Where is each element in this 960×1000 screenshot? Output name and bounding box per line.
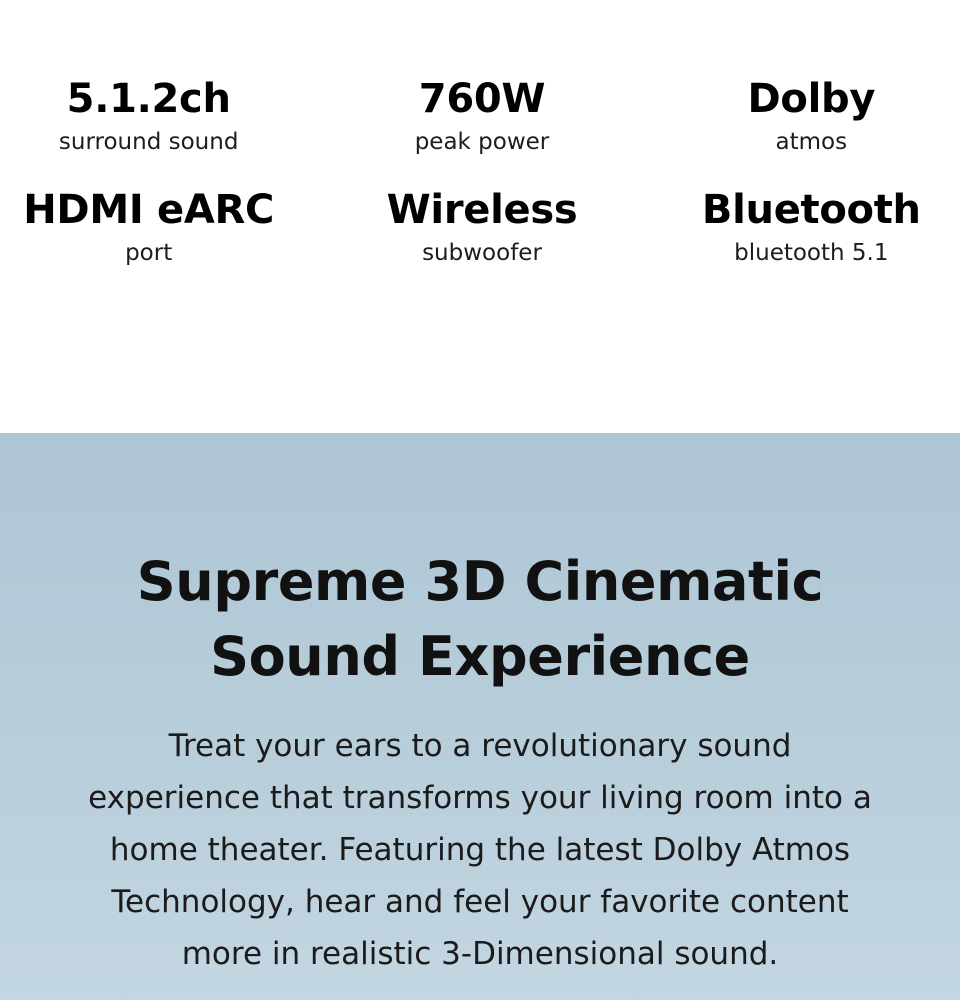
spec-item-surround-sound: 5.1.2ch surround sound (0, 78, 333, 156)
hero-section: Supreme 3D Cinematic Sound Experience Tr… (0, 433, 960, 1000)
spec-value: 5.1.2ch (67, 78, 231, 121)
spec-value: Bluetooth (702, 189, 921, 232)
spec-value: HDMI eARC (23, 189, 274, 232)
spec-label: peak power (415, 130, 550, 156)
spec-item-hdmi-earc: HDMI eARC port (0, 189, 333, 267)
spec-value: Dolby (748, 78, 876, 121)
spec-label: port (125, 241, 172, 267)
spec-label: surround sound (59, 130, 239, 156)
specs-section: 5.1.2ch surround sound 760W peak power D… (0, 0, 960, 433)
hero-description: Treat your ears to a revolutionary sound… (85, 694, 875, 980)
spec-label: subwoofer (422, 241, 542, 267)
spec-value: Wireless (387, 189, 578, 232)
spec-item-dolby-atmos: Dolby atmos (633, 78, 960, 156)
spec-item-wireless-subwoofer: Wireless subwoofer (333, 189, 632, 267)
product-detail-page: 5.1.2ch surround sound 760W peak power D… (0, 0, 960, 1000)
spec-row: HDMI eARC port Wireless subwoofer Blueto… (0, 189, 960, 267)
hero-title: Supreme 3D Cinematic Sound Experience (100, 433, 860, 694)
spec-label: atmos (776, 130, 848, 156)
spec-row: 5.1.2ch surround sound 760W peak power D… (0, 78, 960, 156)
spec-item-bluetooth: Bluetooth bluetooth 5.1 (633, 189, 960, 267)
spec-label: bluetooth 5.1 (734, 241, 888, 267)
spec-value: 760W (419, 78, 545, 121)
spec-item-peak-power: 760W peak power (333, 78, 632, 156)
